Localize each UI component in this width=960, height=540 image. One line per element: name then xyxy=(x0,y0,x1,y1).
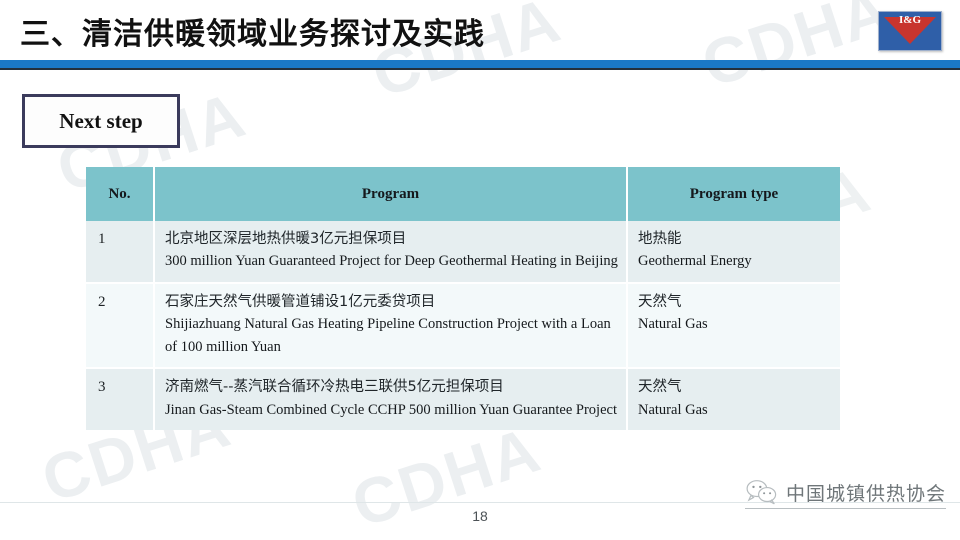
page-number: 18 xyxy=(0,508,960,524)
table-header: No. Program Program type xyxy=(86,167,840,221)
table-row: 2 石家庄天然气供暖管道铺设1亿元委贷项目 Shijiazhuang Natur… xyxy=(86,283,840,368)
wechat-icon xyxy=(745,478,779,506)
cell-no: 1 xyxy=(86,221,154,283)
organization-name: 中国城镇供热协会 xyxy=(786,479,946,506)
cell-program-type: 天然气 Natural Gas xyxy=(627,283,840,368)
cell-no: 3 xyxy=(86,368,154,430)
page-title: 三、清洁供暖领域业务探讨及实践 xyxy=(20,18,485,52)
next-step-callout: Next step xyxy=(22,94,180,148)
program-name-cn: 济南燃气--蒸汽联合循环冷热电三联供5亿元担保项目 xyxy=(165,376,620,398)
program-type-cn: 天然气 xyxy=(638,291,834,313)
slide-header: 三、清洁供暖领域业务探讨及实践 I&G xyxy=(0,0,960,70)
table-body: 1 北京地区深层地热供暖3亿元担保项目 300 million Yuan Gua… xyxy=(86,221,840,430)
title-accent-underline xyxy=(0,68,960,70)
logo-wordmark: I&G xyxy=(879,14,941,26)
table-header-row: No. Program Program type xyxy=(86,167,840,221)
cell-program: 北京地区深层地热供暖3亿元担保项目 300 million Yuan Guara… xyxy=(154,221,627,283)
program-type-en: Natural Gas xyxy=(638,313,834,335)
ig-logo: I&G xyxy=(878,11,942,51)
program-name-en: Jinan Gas-Steam Combined Cycle CCHP 500 … xyxy=(165,399,620,421)
cell-program: 石家庄天然气供暖管道铺设1亿元委贷项目 Shijiazhuang Natural… xyxy=(154,283,627,368)
program-name-en: 300 million Yuan Guaranteed Project for … xyxy=(165,250,620,272)
cell-program-type: 地热能 Geothermal Energy xyxy=(627,221,840,283)
program-type-cn: 地热能 xyxy=(638,228,834,250)
table-row: 3 济南燃气--蒸汽联合循环冷热电三联供5亿元担保项目 Jinan Gas-St… xyxy=(86,368,840,430)
program-name-en: Shijiazhuang Natural Gas Heating Pipelin… xyxy=(165,313,620,358)
slide-canvas: CDHA CDHA CDHA CDHA CDHA CDHA CDHA CDHA … xyxy=(0,0,960,540)
program-type-en: Natural Gas xyxy=(638,399,834,421)
program-type-en: Geothermal Energy xyxy=(638,250,834,272)
next-step-label: Next step xyxy=(59,109,142,134)
column-header-program-type: Program type xyxy=(627,167,840,221)
program-table: No. Program Program type 1 北京地区深层地热供暖3亿元… xyxy=(86,167,840,430)
cell-program-type: 天然气 Natural Gas xyxy=(627,368,840,430)
program-name-cn: 石家庄天然气供暖管道铺设1亿元委贷项目 xyxy=(165,291,620,313)
table-row: 1 北京地区深层地热供暖3亿元担保项目 300 million Yuan Gua… xyxy=(86,221,840,283)
column-header-program: Program xyxy=(154,167,627,221)
title-accent-bar xyxy=(0,60,960,68)
cell-no: 2 xyxy=(86,283,154,368)
program-name-cn: 北京地区深层地热供暖3亿元担保项目 xyxy=(165,228,620,250)
cell-program: 济南燃气--蒸汽联合循环冷热电三联供5亿元担保项目 Jinan Gas-Stea… xyxy=(154,368,627,430)
wechat-credit: 中国城镇供热协会 xyxy=(745,478,946,509)
column-header-no: No. xyxy=(86,167,154,221)
program-type-cn: 天然气 xyxy=(638,376,834,398)
